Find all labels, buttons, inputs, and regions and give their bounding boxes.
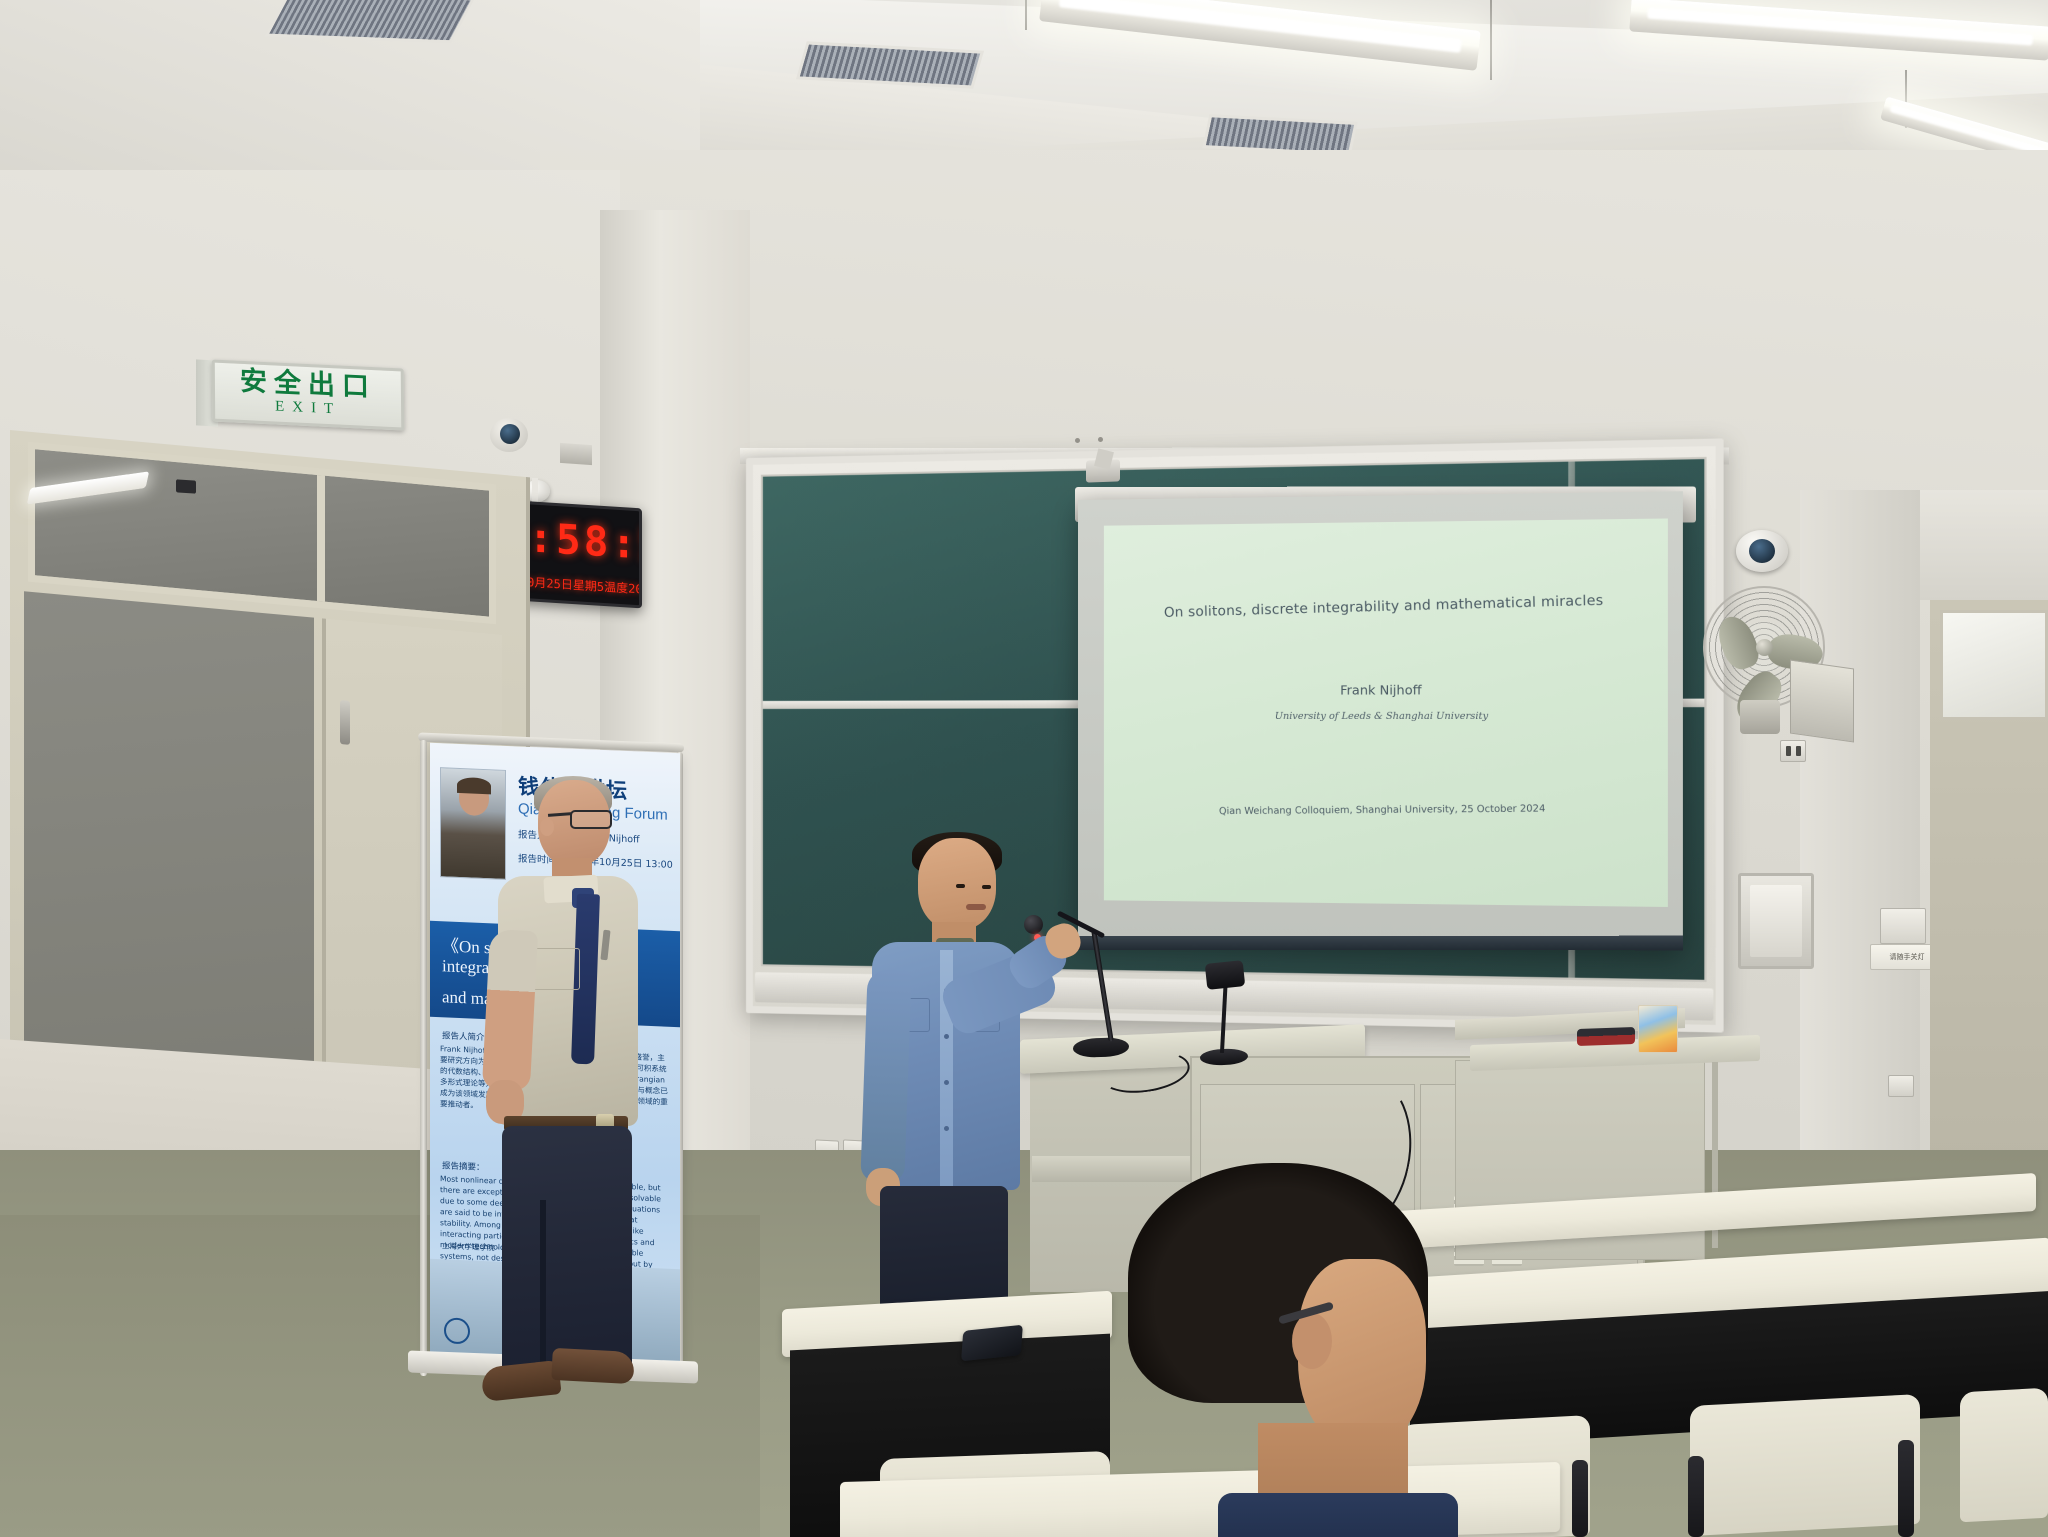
door-sensor-icon xyxy=(176,479,196,493)
chair-post xyxy=(1688,1456,1704,1537)
light-switch[interactable] xyxy=(1880,908,1926,944)
wall-bracket xyxy=(560,443,592,465)
sensor-lens-icon xyxy=(500,424,520,444)
door-transom-window xyxy=(28,442,496,625)
outlet-slot xyxy=(1786,746,1791,756)
air-vent-icon xyxy=(265,0,476,43)
speaker-trousers xyxy=(502,1126,632,1376)
speaker-shoe-left xyxy=(480,1360,561,1402)
classroom-photo-scene: 安全出口 EXIT 12:58:56 2024年 10月 25日 星期5 温度2… xyxy=(0,0,2048,1537)
right-wall-pillar xyxy=(1800,490,1920,1250)
student-ear xyxy=(1292,1313,1332,1369)
panel-face xyxy=(1750,885,1802,957)
clock-weekday: 星期5 xyxy=(573,576,604,595)
light-chain xyxy=(1025,0,1027,30)
person-speaker-frank-nijhoff xyxy=(478,780,658,1420)
person-audience-student xyxy=(1128,1163,1428,1537)
university-logo-icon xyxy=(444,1317,470,1344)
presentation-slide: On solitons, discrete integrability and … xyxy=(1104,518,1668,906)
transom-divider xyxy=(317,475,325,602)
wall-screw xyxy=(1075,438,1080,443)
shirt-button xyxy=(944,1034,949,1039)
person-host-presenter xyxy=(870,838,1075,1298)
banner-pole-left xyxy=(420,740,427,1376)
slide-affiliation: University of Leeds & Shanghai Universit… xyxy=(1131,711,1639,722)
power-outlet[interactable] xyxy=(1780,740,1806,762)
fan-blade xyxy=(1713,611,1763,673)
exit-sign: 安全出口 EXIT xyxy=(212,359,405,430)
chair[interactable] xyxy=(1690,1394,1920,1536)
shirt-button xyxy=(944,1080,949,1085)
light-chain xyxy=(1490,0,1492,80)
chair[interactable] xyxy=(1960,1388,2048,1523)
trouser-seam xyxy=(540,1200,546,1380)
slide-title: On solitons, discrete integrability and … xyxy=(1131,591,1639,622)
exit-sign-chinese-label: 安全出口 xyxy=(240,368,376,401)
second-microphone-head[interactable] xyxy=(1205,960,1246,990)
speaker-shoe-right xyxy=(551,1348,635,1384)
host-left-arm xyxy=(860,969,911,1182)
camera-lens-icon xyxy=(1749,539,1775,563)
pencil-case[interactable] xyxy=(1577,1027,1635,1046)
speaker-left-arm xyxy=(482,929,538,1091)
clock-day: 25日 xyxy=(546,574,572,593)
clock-temperature: 温度20℃ xyxy=(604,578,642,598)
wall-screw xyxy=(1098,437,1103,442)
fan-bracket xyxy=(1740,700,1780,734)
power-outlet[interactable] xyxy=(1888,1075,1914,1097)
slide-author: Frank Nijhoff xyxy=(1131,682,1639,698)
student-shirt xyxy=(1218,1493,1458,1537)
wall-control-panel[interactable] xyxy=(1738,873,1814,969)
right-door-window xyxy=(1940,610,2048,720)
host-trousers xyxy=(880,1186,1008,1316)
juice-carton[interactable] xyxy=(1638,1005,1678,1053)
fan-control-box xyxy=(1790,660,1854,743)
door-handle[interactable] xyxy=(340,700,350,745)
host-eye xyxy=(956,884,965,888)
fan-hub xyxy=(1756,639,1773,656)
slide-venue: Qian Weichang Colloquiem, Shanghai Unive… xyxy=(1131,802,1639,817)
right-doorway-header xyxy=(1920,490,2048,600)
glasses-icon xyxy=(570,810,612,829)
outlet-slot xyxy=(1796,746,1801,756)
exit-sign-english-label: EXIT xyxy=(275,397,341,420)
chair-post xyxy=(1898,1440,1914,1537)
speaker-ear xyxy=(540,818,554,836)
host-eye xyxy=(982,885,991,889)
shirt-button xyxy=(944,1126,949,1131)
projection-screen: On solitons, discrete integrability and … xyxy=(1078,491,1683,948)
host-mouth xyxy=(966,904,986,910)
security-camera-icon xyxy=(1736,530,1788,572)
projection-screen-bottom-bar xyxy=(1078,936,1683,951)
chair-post xyxy=(1572,1460,1588,1537)
